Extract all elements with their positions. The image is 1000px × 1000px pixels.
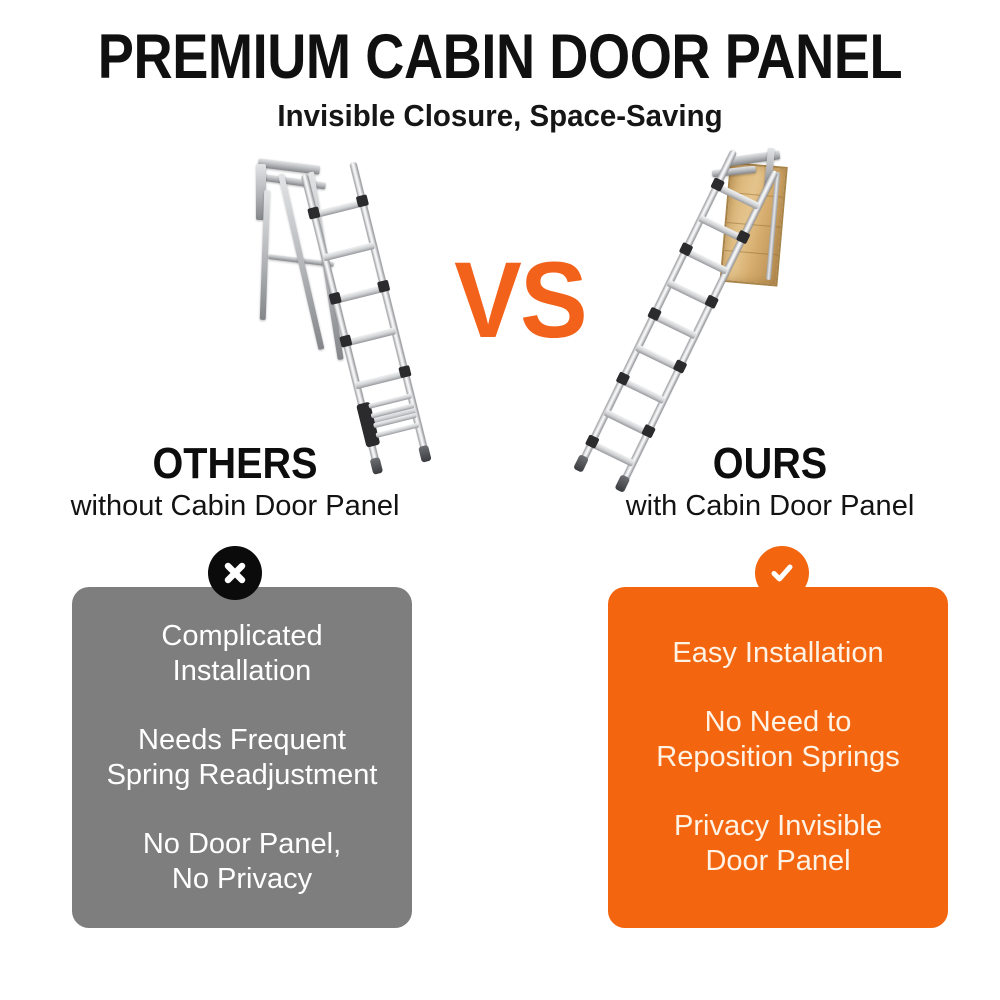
ladder-foot (418, 445, 432, 463)
check-badge (755, 546, 809, 600)
ours-benefits-card: Easy Installation No Need to Reposition … (608, 587, 948, 928)
others-drawbacks-card: Complicated Installation Needs Frequent … (72, 587, 412, 928)
ladder-rungs-assembly (297, 160, 437, 468)
others-point-1: Complicated Installation (94, 619, 390, 689)
ours-title: OURS (599, 440, 941, 488)
page-title: PREMIUM CABIN DOOR PANEL (70, 24, 930, 90)
versus-label: VS (440, 244, 600, 356)
cross-badge (208, 546, 262, 600)
others-ladder-image (250, 150, 420, 470)
cross-icon (221, 559, 249, 587)
product-comparison-infographic: PREMIUM CABIN DOOR PANEL Invisible Closu… (0, 0, 1000, 1000)
ours-subtitle: with Cabin Door Panel (560, 489, 980, 523)
ours-point-1: Easy Installation (630, 636, 926, 671)
others-title: OTHERS (64, 440, 406, 488)
ours-point-2: No Need to Reposition Springs (630, 705, 926, 775)
check-icon (767, 558, 797, 588)
ladder-rung (323, 242, 375, 261)
ours-point-3: Privacy Invisible Door Panel (630, 809, 926, 879)
others-point-3: No Door Panel, No Privacy (94, 827, 390, 897)
page-subtitle: Invisible Closure, Space-Saving (25, 97, 975, 135)
others-point-2: Needs Frequent Spring Readjustment (94, 723, 390, 793)
others-subtitle: without Cabin Door Panel (25, 489, 445, 523)
ours-ladder-image (580, 140, 840, 470)
ladder-foot (573, 454, 589, 473)
